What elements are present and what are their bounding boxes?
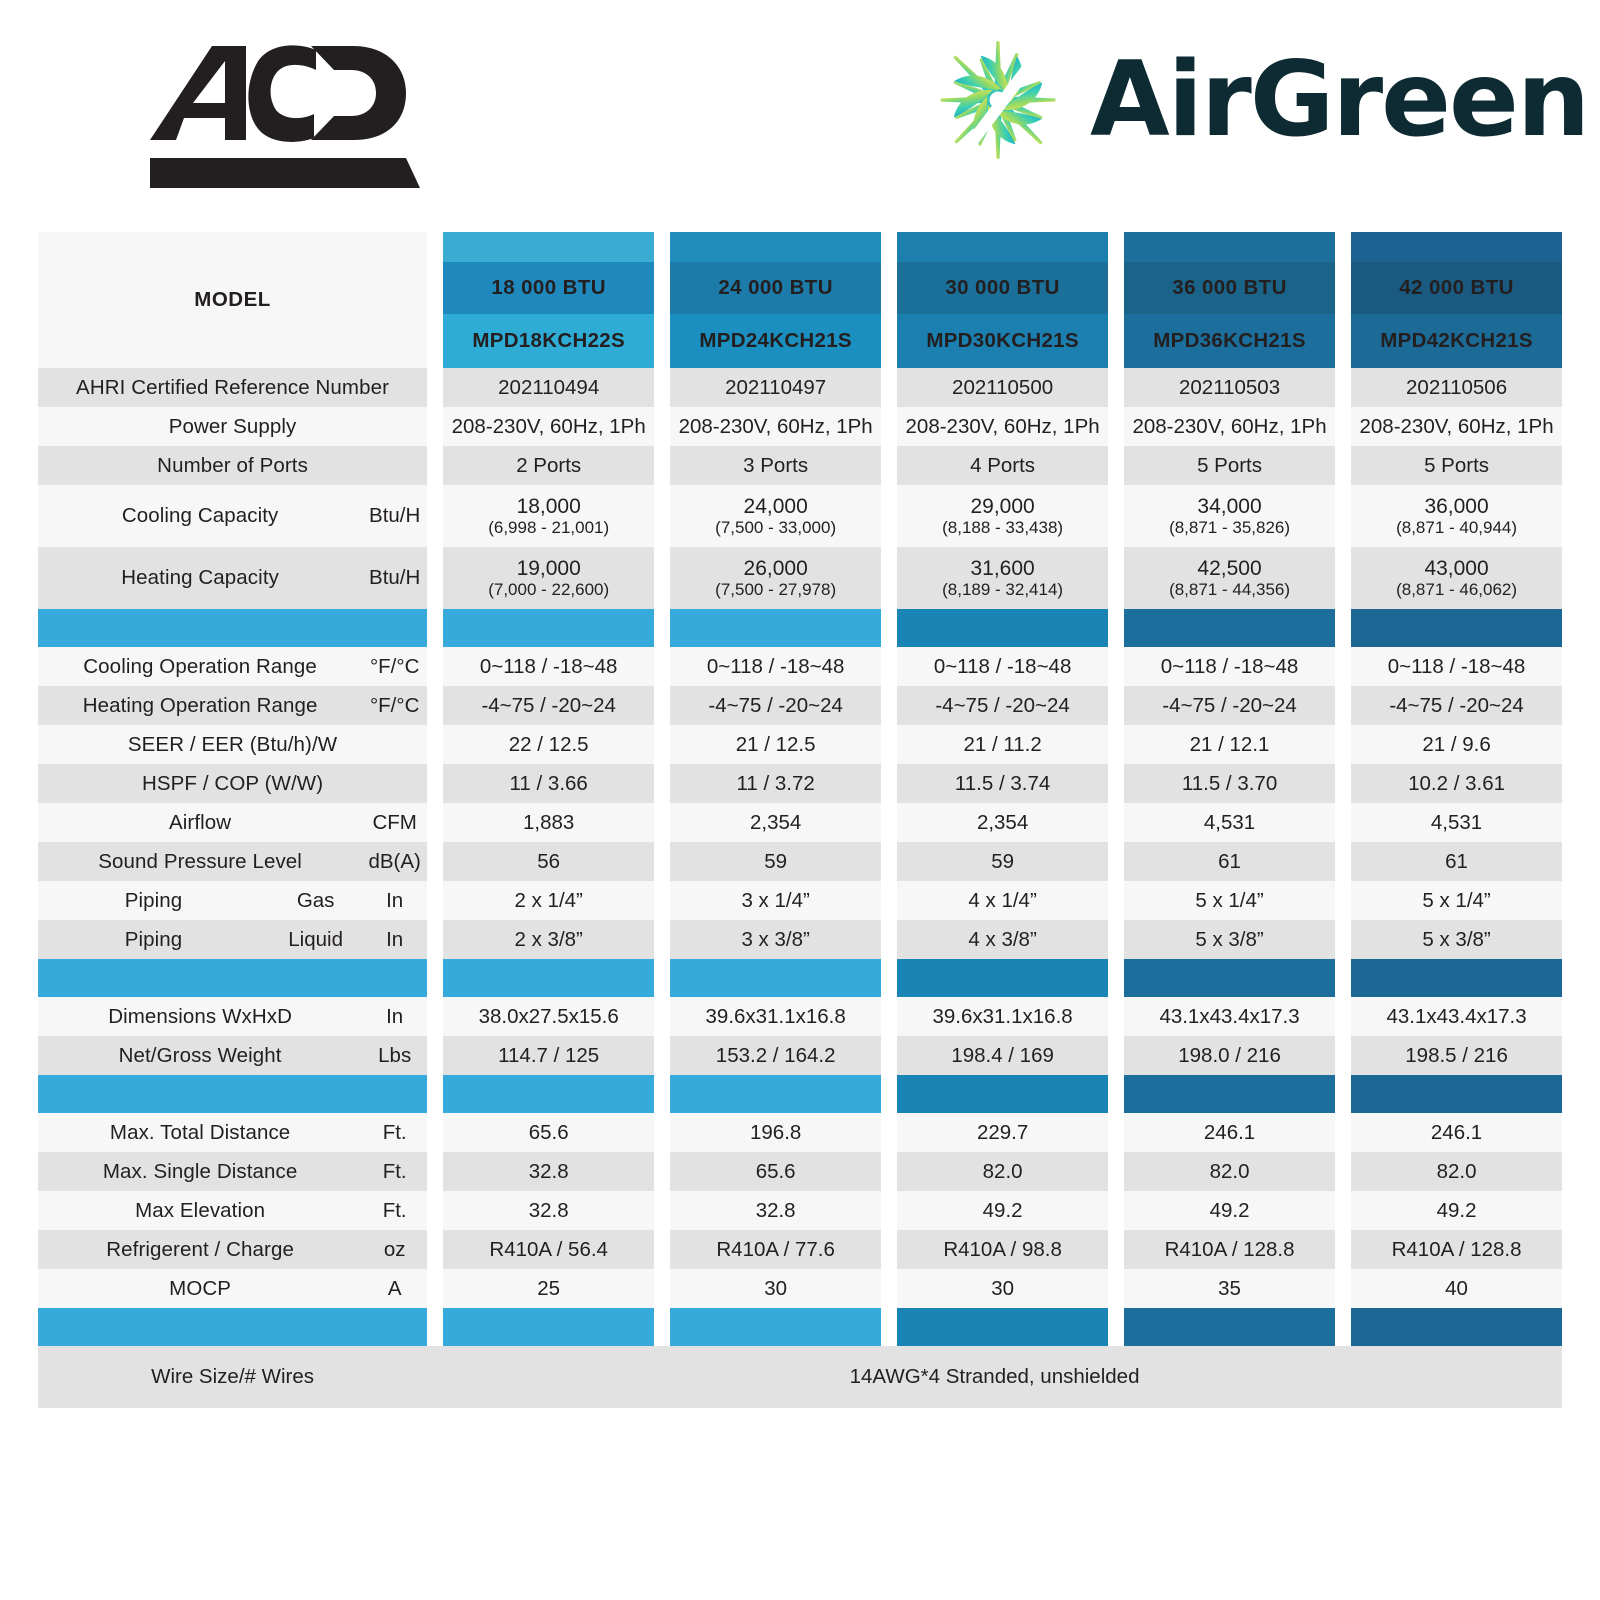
row-value: 2 Ports [443, 446, 654, 485]
wire-size-value: 14AWG*4 Stranded, unshielded [427, 1346, 1562, 1408]
row-value: 0~118 / -18~48 [670, 647, 881, 686]
row-value: -4~75 / -20~24 [897, 686, 1108, 725]
row-value: 202110506 [1351, 368, 1562, 407]
row-value: 61 [1124, 842, 1335, 881]
row-label: AHRI Certified Reference Number [38, 368, 427, 407]
column-gap [654, 485, 670, 547]
row-value: 21 / 9.6 [1351, 725, 1562, 764]
row-label: Dimensions WxHxD [38, 997, 362, 1036]
column-gap [881, 1075, 897, 1113]
column-gap [654, 1308, 670, 1346]
row-value: 56 [443, 842, 654, 881]
row-value: 202110500 [897, 368, 1108, 407]
row-value: 4 x 3/8” [897, 920, 1108, 959]
table-row: Cooling CapacityBtu/H18,000(6,998 - 21,0… [38, 485, 1562, 547]
column-gap [881, 407, 897, 446]
row-sublabel: Gas [269, 881, 362, 920]
row-value: 4 Ports [897, 446, 1108, 485]
row-value: 38.0x27.5x15.6 [443, 997, 654, 1036]
row-value: 1,883 [443, 803, 654, 842]
header-top-band: MODEL [38, 232, 1562, 262]
column-gap [1335, 686, 1351, 725]
row-value: 2,354 [670, 803, 881, 842]
row-value: 4,531 [1124, 803, 1335, 842]
row-value: 35 [1124, 1269, 1335, 1308]
section-divider [38, 1308, 1562, 1346]
row-value: R410A / 56.4 [443, 1230, 654, 1269]
column-gap [654, 368, 670, 407]
column-gap [1335, 368, 1351, 407]
row-value: 25 [443, 1269, 654, 1308]
column-gap [1108, 1269, 1124, 1308]
row-value: 0~118 / -18~48 [897, 647, 1108, 686]
column-gap [427, 609, 443, 647]
row-value: 3 Ports [670, 446, 881, 485]
column-gap [1335, 262, 1351, 314]
row-value: -4~75 / -20~24 [1124, 686, 1335, 725]
divider-column-block [443, 1075, 654, 1113]
row-label: SEER / EER (Btu/h)/W [38, 725, 427, 764]
row-value: 39.6x31.1x16.8 [897, 997, 1108, 1036]
column-gap [1335, 1191, 1351, 1230]
column-gap [1335, 407, 1351, 446]
column-gap [654, 1152, 670, 1191]
column-gap [881, 1152, 897, 1191]
row-value: 18,000(6,998 - 21,001) [443, 485, 654, 547]
row-unit: dB(A) [362, 842, 427, 881]
column-gap [881, 959, 897, 997]
row-value: 82.0 [1124, 1152, 1335, 1191]
row-value: 208-230V, 60Hz, 1Ph [1351, 407, 1562, 446]
row-unit: Btu/H [362, 547, 427, 609]
row-value: R410A / 128.8 [1124, 1230, 1335, 1269]
column-gap [1335, 547, 1351, 609]
column-gap [1108, 368, 1124, 407]
column-top-band [443, 232, 654, 262]
column-gap [1108, 764, 1124, 803]
model-header: MODEL [38, 232, 427, 368]
row-value: 31,600(8,189 - 32,414) [897, 547, 1108, 609]
table-row: Refrigerent / ChargeozR410A / 56.4R410A … [38, 1230, 1562, 1269]
row-value: 198.4 / 169 [897, 1036, 1108, 1075]
column-gap [1108, 485, 1124, 547]
row-value: 49.2 [897, 1191, 1108, 1230]
column-gap [654, 647, 670, 686]
column-gap [1335, 1230, 1351, 1269]
row-value: -4~75 / -20~24 [1351, 686, 1562, 725]
column-gap [427, 647, 443, 686]
divider-column-block [443, 609, 654, 647]
row-value: R410A / 128.8 [1351, 1230, 1562, 1269]
column-gap [1108, 725, 1124, 764]
column-gap [1335, 1152, 1351, 1191]
divider-column-block [670, 1075, 881, 1113]
column-gap [1335, 920, 1351, 959]
divider-column-block [1351, 959, 1562, 997]
divider-column-block [670, 609, 881, 647]
acd-logo [148, 28, 438, 196]
column-gap [1335, 1036, 1351, 1075]
row-value: 49.2 [1351, 1191, 1562, 1230]
row-value: 19,000(7,000 - 22,600) [443, 547, 654, 609]
row-value: 32.8 [670, 1191, 881, 1230]
column-gap [881, 609, 897, 647]
table-row: AHRI Certified Reference Number202110494… [38, 368, 1562, 407]
row-label: Airflow [38, 803, 362, 842]
row-label: Power Supply [38, 407, 427, 446]
column-gap [881, 920, 897, 959]
row-value: 198.5 / 216 [1351, 1036, 1562, 1075]
row-label: Piping [38, 920, 269, 959]
column-gap [1335, 446, 1351, 485]
row-label: Net/Gross Weight [38, 1036, 362, 1075]
row-value: 246.1 [1124, 1113, 1335, 1152]
row-value: 4,531 [1351, 803, 1562, 842]
row-value: 11.5 / 3.74 [897, 764, 1108, 803]
column-gap [427, 547, 443, 609]
column-gap [1108, 1152, 1124, 1191]
column-gap [881, 1036, 897, 1075]
row-label: Max. Total Distance [38, 1113, 362, 1152]
column-gap [881, 446, 897, 485]
row-value: 82.0 [1351, 1152, 1562, 1191]
row-value: 42,500(8,871 - 44,356) [1124, 547, 1335, 609]
column-gap [881, 1191, 897, 1230]
column-gap [1335, 881, 1351, 920]
row-label: Number of Ports [38, 446, 427, 485]
row-label: Cooling Operation Range [38, 647, 362, 686]
row-unit: CFM [362, 803, 427, 842]
column-gap [654, 609, 670, 647]
row-value: 30 [670, 1269, 881, 1308]
row-value: 153.2 / 164.2 [670, 1036, 881, 1075]
column-gap [1335, 609, 1351, 647]
divider-column-block [897, 1308, 1108, 1346]
column-gap [881, 881, 897, 920]
column-gap [1108, 647, 1124, 686]
column-gap [427, 232, 443, 262]
divider-label-block [38, 959, 362, 997]
column-gap [654, 725, 670, 764]
column-gap [1335, 997, 1351, 1036]
specification-table: MODEL18 000 BTU24 000 BTU30 000 BTU36 00… [38, 232, 1562, 1408]
column-gap [654, 232, 670, 262]
row-value: 30 [897, 1269, 1108, 1308]
divider-unit-block [362, 959, 427, 997]
row-value: 0~118 / -18~48 [1124, 647, 1335, 686]
section-divider [38, 609, 1562, 647]
column-model-number[interactable]: MPD30KCH21S [897, 314, 1108, 368]
column-gap [654, 920, 670, 959]
row-value: 10.2 / 3.61 [1351, 764, 1562, 803]
row-value: 24,000(7,500 - 33,000) [670, 485, 881, 547]
column-gap [1335, 647, 1351, 686]
divider-column-block [897, 609, 1108, 647]
table-row: Dimensions WxHxDIn38.0x27.5x15.639.6x31.… [38, 997, 1562, 1036]
column-gap [1335, 1308, 1351, 1346]
column-gap [654, 407, 670, 446]
column-gap [654, 764, 670, 803]
column-top-band [897, 232, 1108, 262]
row-value: 202110497 [670, 368, 881, 407]
column-gap [427, 1308, 443, 1346]
table-row: Cooling Operation Range°F/°C0~118 / -18~… [38, 647, 1562, 686]
row-unit: Ft. [362, 1152, 427, 1191]
column-gap [654, 1075, 670, 1113]
column-gap [1335, 959, 1351, 997]
row-value: -4~75 / -20~24 [670, 686, 881, 725]
row-value: 21 / 11.2 [897, 725, 1108, 764]
column-btu-label: 36 000 BTU [1124, 262, 1335, 314]
column-gap [654, 686, 670, 725]
column-gap [427, 1269, 443, 1308]
row-unit: Ft. [362, 1191, 427, 1230]
row-value: 59 [670, 842, 881, 881]
divider-label-block [38, 1075, 362, 1113]
row-value: 65.6 [670, 1152, 881, 1191]
row-unit: Ft. [362, 1113, 427, 1152]
column-gap [881, 262, 897, 314]
row-value: 11 / 3.66 [443, 764, 654, 803]
column-gap [427, 1036, 443, 1075]
row-value: 49.2 [1124, 1191, 1335, 1230]
column-gap [654, 881, 670, 920]
column-gap [881, 314, 897, 368]
row-value: 0~118 / -18~48 [443, 647, 654, 686]
row-unit: Btu/H [362, 485, 427, 547]
row-value: 5 x 3/8” [1351, 920, 1562, 959]
row-value: 198.0 / 216 [1124, 1036, 1335, 1075]
divider-column-block [670, 959, 881, 997]
table-row: Number of Ports2 Ports3 Ports4 Ports5 Po… [38, 446, 1562, 485]
column-gap [881, 368, 897, 407]
column-gap [1335, 314, 1351, 368]
column-gap [427, 803, 443, 842]
column-gap [1108, 407, 1124, 446]
column-gap [427, 407, 443, 446]
column-gap [1335, 1075, 1351, 1113]
divider-column-block [1124, 959, 1335, 997]
table-row: PipingLiquidIn2 x 3/8”3 x 3/8”4 x 3/8”5 … [38, 920, 1562, 959]
column-gap [1108, 609, 1124, 647]
column-gap [881, 232, 897, 262]
divider-label-block [38, 1308, 362, 1346]
divider-column-block [1124, 1308, 1335, 1346]
column-gap [1108, 446, 1124, 485]
table-row: MOCPA2530303540 [38, 1269, 1562, 1308]
column-gap [427, 314, 443, 368]
column-gap [427, 1113, 443, 1152]
row-value: 114.7 / 125 [443, 1036, 654, 1075]
row-value: 21 / 12.1 [1124, 725, 1335, 764]
column-gap [881, 686, 897, 725]
divider-column-block [1124, 609, 1335, 647]
column-gap [1335, 764, 1351, 803]
row-value: 59 [897, 842, 1108, 881]
column-btu-label: 18 000 BTU [443, 262, 654, 314]
column-gap [881, 1113, 897, 1152]
column-gap [427, 1075, 443, 1113]
column-gap [1108, 1191, 1124, 1230]
column-model-number[interactable]: MPD18KCH22S [443, 314, 654, 368]
row-value: 2 x 3/8” [443, 920, 654, 959]
column-gap [654, 1230, 670, 1269]
column-gap [654, 1269, 670, 1308]
column-gap [654, 547, 670, 609]
airgreen-logo: AirGreen [928, 30, 1588, 170]
column-model-number[interactable]: MPD36KCH21S [1124, 314, 1335, 368]
column-gap [427, 368, 443, 407]
column-gap [1335, 1113, 1351, 1152]
row-label: HSPF / COP (W/W) [38, 764, 427, 803]
row-value: 3 x 3/8” [670, 920, 881, 959]
column-gap [1108, 1036, 1124, 1075]
column-gap [881, 1269, 897, 1308]
column-gap [1108, 803, 1124, 842]
row-value: 4 x 1/4” [897, 881, 1108, 920]
row-value: 2 x 1/4” [443, 881, 654, 920]
row-value: 5 x 1/4” [1351, 881, 1562, 920]
row-value: 229.7 [897, 1113, 1108, 1152]
row-value: 65.6 [443, 1113, 654, 1152]
row-label: Sound Pressure Level [38, 842, 362, 881]
row-unit: A [362, 1269, 427, 1308]
row-label: Piping [38, 881, 269, 920]
row-sublabel: Liquid [269, 920, 362, 959]
wire-size-label: Wire Size/# Wires [38, 1346, 427, 1408]
column-gap [1335, 725, 1351, 764]
column-gap [654, 1191, 670, 1230]
column-gap [654, 803, 670, 842]
divider-unit-block [362, 1308, 427, 1346]
section-divider [38, 1075, 1562, 1113]
row-value: 22 / 12.5 [443, 725, 654, 764]
column-btu-label: 24 000 BTU [670, 262, 881, 314]
row-value: 11 / 3.72 [670, 764, 881, 803]
row-label: MOCP [38, 1269, 362, 1308]
table-row: Power Supply208-230V, 60Hz, 1Ph208-230V,… [38, 407, 1562, 446]
row-value: 21 / 12.5 [670, 725, 881, 764]
column-gap [427, 1230, 443, 1269]
spec-sheet: MODEL18 000 BTU24 000 BTU30 000 BTU36 00… [38, 232, 1562, 1408]
column-model-number[interactable]: MPD42KCH21S [1351, 314, 1562, 368]
column-gap [427, 1191, 443, 1230]
column-gap [1108, 314, 1124, 368]
column-gap [881, 764, 897, 803]
table-row: Sound Pressure LeveldB(A)5659596161 [38, 842, 1562, 881]
row-value: 39.6x31.1x16.8 [670, 997, 881, 1036]
column-gap [427, 881, 443, 920]
divider-column-block [897, 959, 1108, 997]
row-value: 43.1x43.4x17.3 [1124, 997, 1335, 1036]
column-model-number[interactable]: MPD24KCH21S [670, 314, 881, 368]
row-value: 43,000(8,871 - 46,062) [1351, 547, 1562, 609]
row-value: R410A / 77.6 [670, 1230, 881, 1269]
divider-column-block [443, 959, 654, 997]
column-gap [1108, 997, 1124, 1036]
divider-column-block [1124, 1075, 1335, 1113]
column-top-band [1124, 232, 1335, 262]
row-unit: Lbs [362, 1036, 427, 1075]
column-gap [427, 485, 443, 547]
table-row: Max ElevationFt.32.832.849.249.249.2 [38, 1191, 1562, 1230]
column-gap [427, 920, 443, 959]
wire-size-row: Wire Size/# Wires14AWG*4 Stranded, unshi… [38, 1346, 1562, 1408]
divider-column-block [1351, 1075, 1562, 1113]
row-unit: °F/°C [362, 647, 427, 686]
column-gap [1108, 920, 1124, 959]
row-value: 208-230V, 60Hz, 1Ph [897, 407, 1108, 446]
column-gap [427, 686, 443, 725]
table-row: PipingGasIn2 x 1/4”3 x 1/4”4 x 1/4”5 x 1… [38, 881, 1562, 920]
column-gap [881, 647, 897, 686]
column-gap [427, 446, 443, 485]
column-gap [881, 803, 897, 842]
row-label: Heating Operation Range [38, 686, 362, 725]
column-gap [654, 959, 670, 997]
column-gap [1335, 842, 1351, 881]
column-gap [881, 1308, 897, 1346]
row-value: 3 x 1/4” [670, 881, 881, 920]
divider-column-block [1351, 609, 1562, 647]
column-gap [1108, 547, 1124, 609]
row-value: 40 [1351, 1269, 1562, 1308]
column-gap [654, 262, 670, 314]
row-value: 5 x 1/4” [1124, 881, 1335, 920]
column-gap [1335, 485, 1351, 547]
row-value: 202110494 [443, 368, 654, 407]
column-gap [1335, 1269, 1351, 1308]
column-top-band [1351, 232, 1562, 262]
column-gap [654, 314, 670, 368]
row-value: 208-230V, 60Hz, 1Ph [1124, 407, 1335, 446]
row-value: 34,000(8,871 - 35,826) [1124, 485, 1335, 547]
column-gap [1108, 262, 1124, 314]
column-gap [1108, 232, 1124, 262]
row-value: 82.0 [897, 1152, 1108, 1191]
row-value: 32.8 [443, 1191, 654, 1230]
column-gap [654, 842, 670, 881]
column-gap [1108, 686, 1124, 725]
column-gap [654, 1113, 670, 1152]
row-value: 26,000(7,500 - 27,978) [670, 547, 881, 609]
row-value: 208-230V, 60Hz, 1Ph [443, 407, 654, 446]
column-top-band [670, 232, 881, 262]
column-gap [881, 1230, 897, 1269]
column-gap [654, 446, 670, 485]
row-unit: In [362, 997, 427, 1036]
divider-label-block [38, 609, 427, 647]
airgreen-burst-icon [928, 30, 1068, 170]
column-gap [427, 764, 443, 803]
row-value: 61 [1351, 842, 1562, 881]
column-gap [1335, 803, 1351, 842]
row-value: 5 Ports [1351, 446, 1562, 485]
row-unit: °F/°C [362, 686, 427, 725]
row-value: 43.1x43.4x17.3 [1351, 997, 1562, 1036]
column-gap [427, 262, 443, 314]
divider-unit-block [362, 1075, 427, 1113]
table-row: HSPF / COP (W/W)11 / 3.6611 / 3.7211.5 /… [38, 764, 1562, 803]
column-gap [1108, 842, 1124, 881]
row-unit: oz [362, 1230, 427, 1269]
column-gap [427, 997, 443, 1036]
table-row: Heating CapacityBtu/H19,000(7,000 - 22,6… [38, 547, 1562, 609]
row-label: Heating Capacity [38, 547, 362, 609]
column-gap [881, 842, 897, 881]
column-gap [654, 1036, 670, 1075]
table-row: SEER / EER (Btu/h)/W22 / 12.521 / 12.521… [38, 725, 1562, 764]
